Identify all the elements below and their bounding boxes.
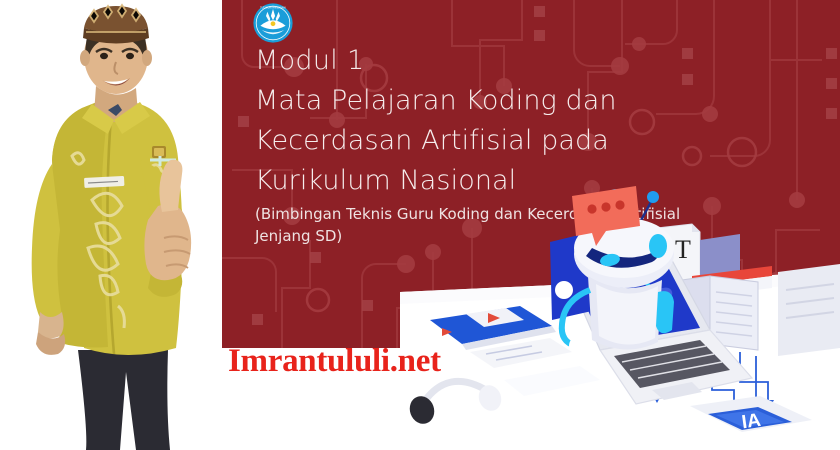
title-line-2: Kecerdasan Artifisial pada	[255, 121, 725, 161]
ai-robot-laptop-illustration: T	[400, 180, 840, 450]
svg-text:TUT WURI HANDAYANI: TUT WURI HANDAYANI	[260, 6, 286, 9]
presenter-photo	[0, 0, 240, 450]
module-label: Modul 1	[255, 44, 725, 78]
title-line-1: Mata Pelajaran Koding dan	[255, 81, 725, 121]
songkok-cap	[83, 5, 149, 44]
tut-wuri-handayani-logo: TUT WURI HANDAYANI	[252, 2, 294, 44]
watermark-text: Imrantululi.net	[228, 343, 441, 380]
slide-canvas: TUT WURI HANDAYANI Modul 1 Mata Pelajara…	[0, 0, 840, 450]
chip-label: IA	[740, 410, 762, 433]
document-letter: T	[675, 235, 691, 264]
